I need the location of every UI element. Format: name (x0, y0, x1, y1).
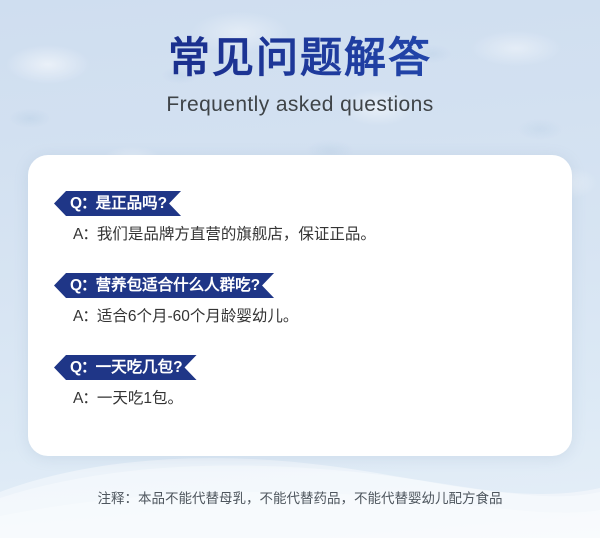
answer-line: A：一天吃1包。 (42, 387, 558, 411)
question-prefix: Q： (70, 195, 96, 212)
answer-prefix: A： (73, 390, 97, 407)
faq-page: 常见问题解答 Frequently asked questions Q：是正品吗… (0, 0, 600, 538)
question-text: 一天吃几包? (96, 359, 183, 376)
answer-line: A：适合6个月-60个月龄婴幼儿。 (42, 305, 558, 329)
page-header: 常见问题解答 Frequently asked questions (0, 0, 600, 117)
question-text: 是正品吗? (96, 195, 167, 212)
faq-item: Q：营养包适合什么人群吃? A：适合6个月-60个月龄婴幼儿。 (42, 273, 558, 329)
answer-text: 一天吃1包。 (97, 390, 183, 407)
question-tag[interactable]: Q：一天吃几包? (54, 355, 197, 380)
disclaimer-note: 注释：本品不能代替母乳，不能代替药品，不能代替婴幼儿配方食品 (0, 490, 600, 508)
faq-item: Q：是正品吗? A：我们是品牌方直营的旗舰店，保证正品。 (42, 191, 558, 247)
answer-line: A：我们是品牌方直营的旗舰店，保证正品。 (42, 223, 558, 247)
faq-item: Q：一天吃几包? A：一天吃1包。 (42, 355, 558, 411)
answer-prefix: A： (73, 308, 97, 325)
answer-text: 适合6个月-60个月龄婴幼儿。 (97, 308, 299, 325)
page-title: 常见问题解答 (0, 0, 600, 81)
question-tag[interactable]: Q：是正品吗? (54, 191, 181, 216)
question-text: 营养包适合什么人群吃? (96, 277, 260, 294)
faq-list: Q：是正品吗? A：我们是品牌方直营的旗舰店，保证正品。 Q：营养包适合什么人群… (42, 191, 558, 411)
answer-prefix: A： (73, 226, 97, 243)
question-prefix: Q： (70, 359, 96, 376)
question-tag[interactable]: Q：营养包适合什么人群吃? (54, 273, 274, 298)
page-subtitle: Frequently asked questions (0, 81, 600, 117)
faq-card: Q：是正品吗? A：我们是品牌方直营的旗舰店，保证正品。 Q：营养包适合什么人群… (28, 155, 572, 456)
answer-text: 我们是品牌方直营的旗舰店，保证正品。 (97, 226, 376, 243)
question-prefix: Q： (70, 277, 96, 294)
